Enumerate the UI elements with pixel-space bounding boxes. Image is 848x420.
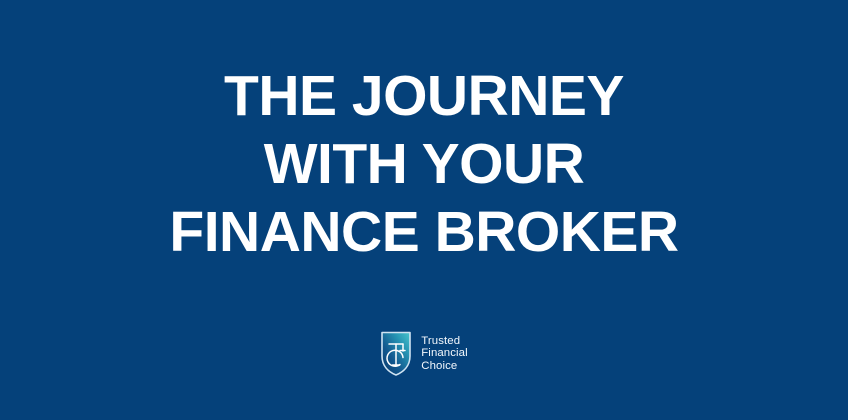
headline-line-3: FINANCE BROKER [0,198,848,266]
brand-logo: Trusted Financial Choice [0,330,848,377]
brand-name-line-1: Trusted [421,335,468,347]
page-title: THE JOURNEY WITH YOUR FINANCE BROKER [0,62,848,266]
shield-monogram-icon [380,330,412,377]
brand-name: Trusted Financial Choice [421,335,468,372]
headline-line-1: THE JOURNEY [0,62,848,130]
headline-line-2: WITH YOUR [0,130,848,198]
brand-name-line-2: Financial [421,347,468,359]
brand-name-line-3: Choice [421,360,468,372]
promo-banner: THE JOURNEY WITH YOUR FINANCE BROKER [0,0,848,420]
